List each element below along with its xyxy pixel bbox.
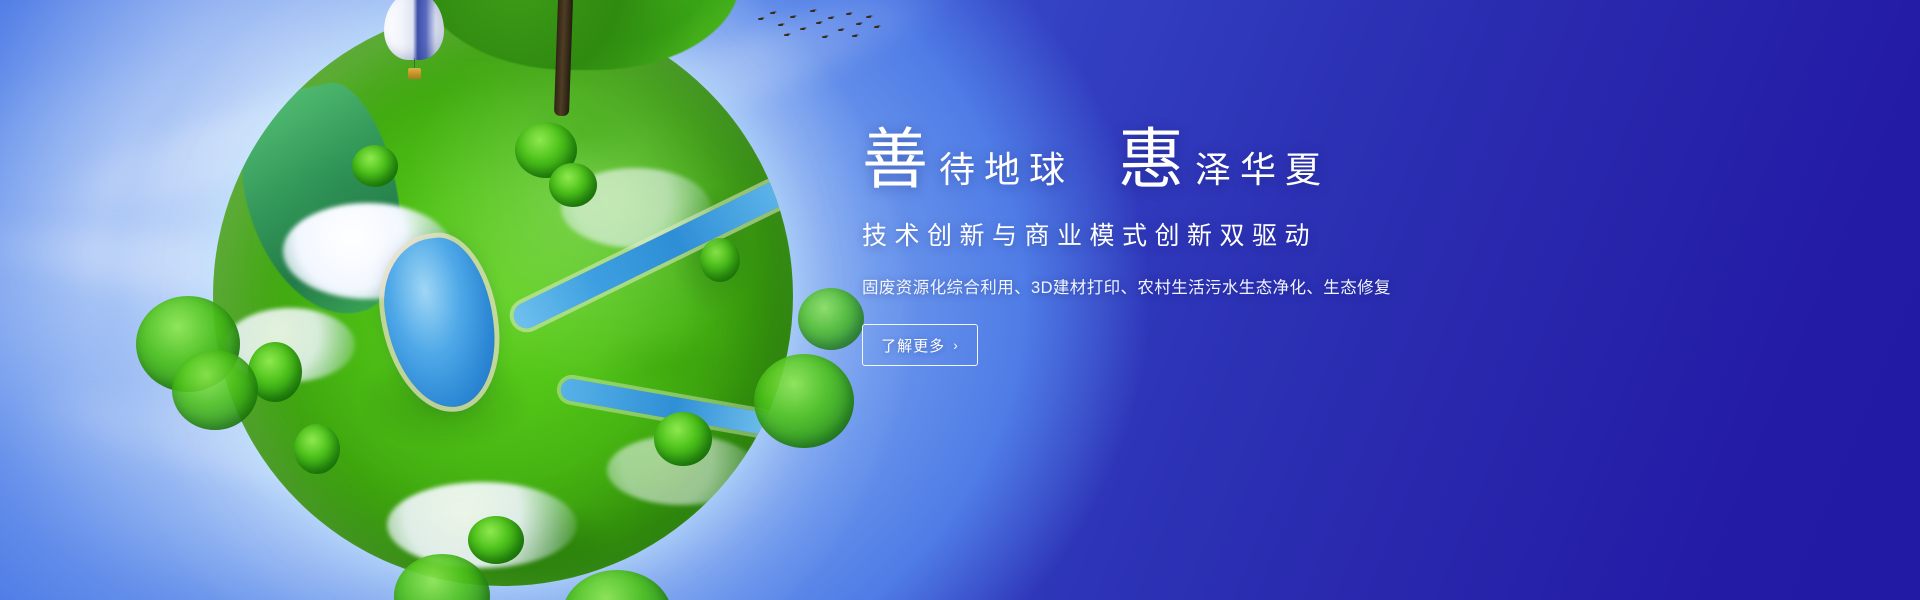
planet-atmosphere-glow: [98, 0, 908, 600]
cloud-patch: [283, 203, 453, 299]
edge-tree-canopy: [562, 570, 672, 600]
headline: 善 待地球 惠 泽华夏: [862, 128, 1562, 194]
hero-banner: 善 待地球 惠 泽华夏 技术创新与商业模式创新双驱动 固废资源化综合利用、3D建…: [0, 0, 1920, 600]
cloud-patch: [561, 168, 711, 248]
headline-text-2: 泽华夏: [1195, 152, 1330, 194]
grass-texture: [213, 6, 793, 586]
cloud-patch: [607, 435, 757, 505]
edge-tree-canopy: [754, 354, 854, 448]
balloon-basket: [408, 68, 421, 79]
edge-tree-canopy: [798, 288, 864, 350]
river: [509, 177, 790, 332]
tree-canopy: [468, 516, 524, 564]
mountain-range: [226, 74, 421, 330]
chevron-right-icon: ›: [953, 337, 959, 353]
tiny-planet-illustration: [158, 0, 848, 600]
tree-canopy: [515, 122, 577, 178]
edge-tree-canopy: [172, 350, 258, 430]
cloud-wisp: [41, 14, 599, 236]
learn-more-label: 了解更多: [881, 335, 945, 356]
cloud-patch: [387, 482, 577, 568]
planet-sphere: [213, 6, 793, 586]
river: [559, 377, 789, 439]
tree-canopy: [248, 342, 302, 402]
cloud-wisp: [20, 368, 620, 555]
description: 固废资源化综合利用、3D建材打印、农村生活污水生态净化、生态修复: [862, 274, 1562, 298]
large-tree-trunk: [554, 0, 573, 116]
tree-canopy: [352, 145, 398, 187]
headline-char-2: 惠: [1118, 128, 1185, 194]
banner-content: 善 待地球 惠 泽华夏 技术创新与商业模式创新双驱动 固废资源化综合利用、3D建…: [862, 128, 1562, 366]
balloon-envelope: [384, 0, 444, 60]
cloud-layer: [0, 0, 1000, 600]
hot-air-balloon: [384, 0, 456, 92]
cloud-wisp: [0, 213, 482, 323]
subtitle: 技术创新与商业模式创新双驱动: [862, 216, 1562, 252]
cloud-patch: [225, 308, 355, 382]
headline-char-1: 善: [862, 128, 929, 194]
learn-more-button[interactable]: 了解更多 ›: [862, 324, 978, 366]
edge-tree-canopy: [394, 554, 490, 600]
tree-canopy: [549, 163, 597, 207]
tree-canopy: [700, 238, 740, 282]
headline-text-1: 待地球: [939, 152, 1074, 194]
large-tree-canopy: [420, 0, 740, 70]
bird-flock: [754, 8, 884, 48]
tree-canopy: [654, 412, 712, 466]
balloon-rope: [414, 58, 415, 70]
lake: [376, 231, 505, 414]
tree-canopy: [294, 424, 340, 474]
edge-tree-canopy: [136, 296, 240, 392]
